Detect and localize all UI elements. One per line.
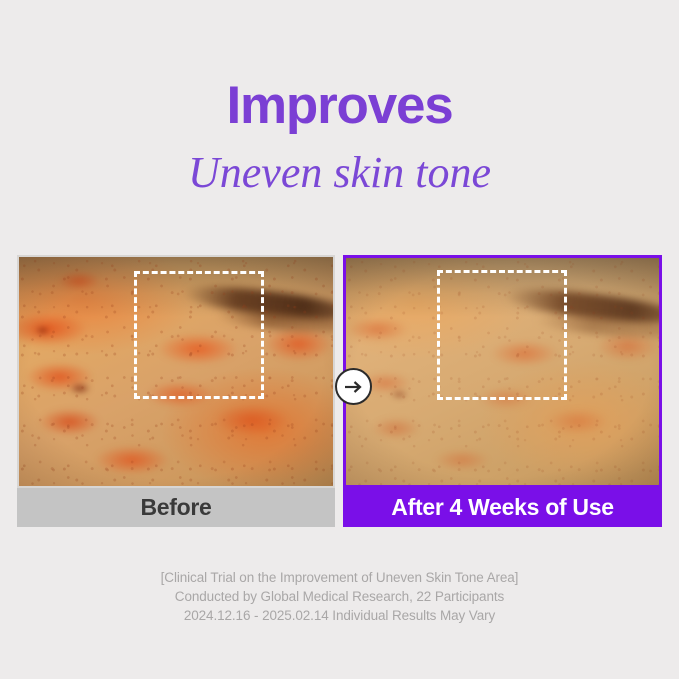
footer-line-3: 2024.12.16 - 2025.02.14 Individual Resul… [0,606,679,625]
after-label-text: After 4 Weeks of Use [391,494,613,521]
before-photo [17,255,335,488]
footer-line-1: [Clinical Trial on the Improvement of Un… [0,568,679,587]
footer-disclaimer: [Clinical Trial on the Improvement of Un… [0,568,679,625]
heading-block: Improves Uneven skin tone [0,78,679,198]
page-title: Improves [0,78,679,134]
after-panel: After 4 Weeks of Use [343,255,662,527]
before-panel: Before [17,255,335,527]
after-label-bar: After 4 Weeks of Use [343,488,662,527]
before-label-bar: Before [17,488,335,527]
before-after-comparison: Before [17,255,662,527]
promotional-graphic: Improves Uneven skin tone [0,0,679,679]
before-label-text: Before [140,494,211,521]
after-photo [343,255,662,488]
footer-line-2: Conducted by Global Medical Research, 22… [0,587,679,606]
before-roi-box [134,271,264,399]
arrow-right-icon [335,368,372,405]
page-subtitle: Uneven skin tone [0,148,679,198]
after-roi-box [437,270,567,400]
